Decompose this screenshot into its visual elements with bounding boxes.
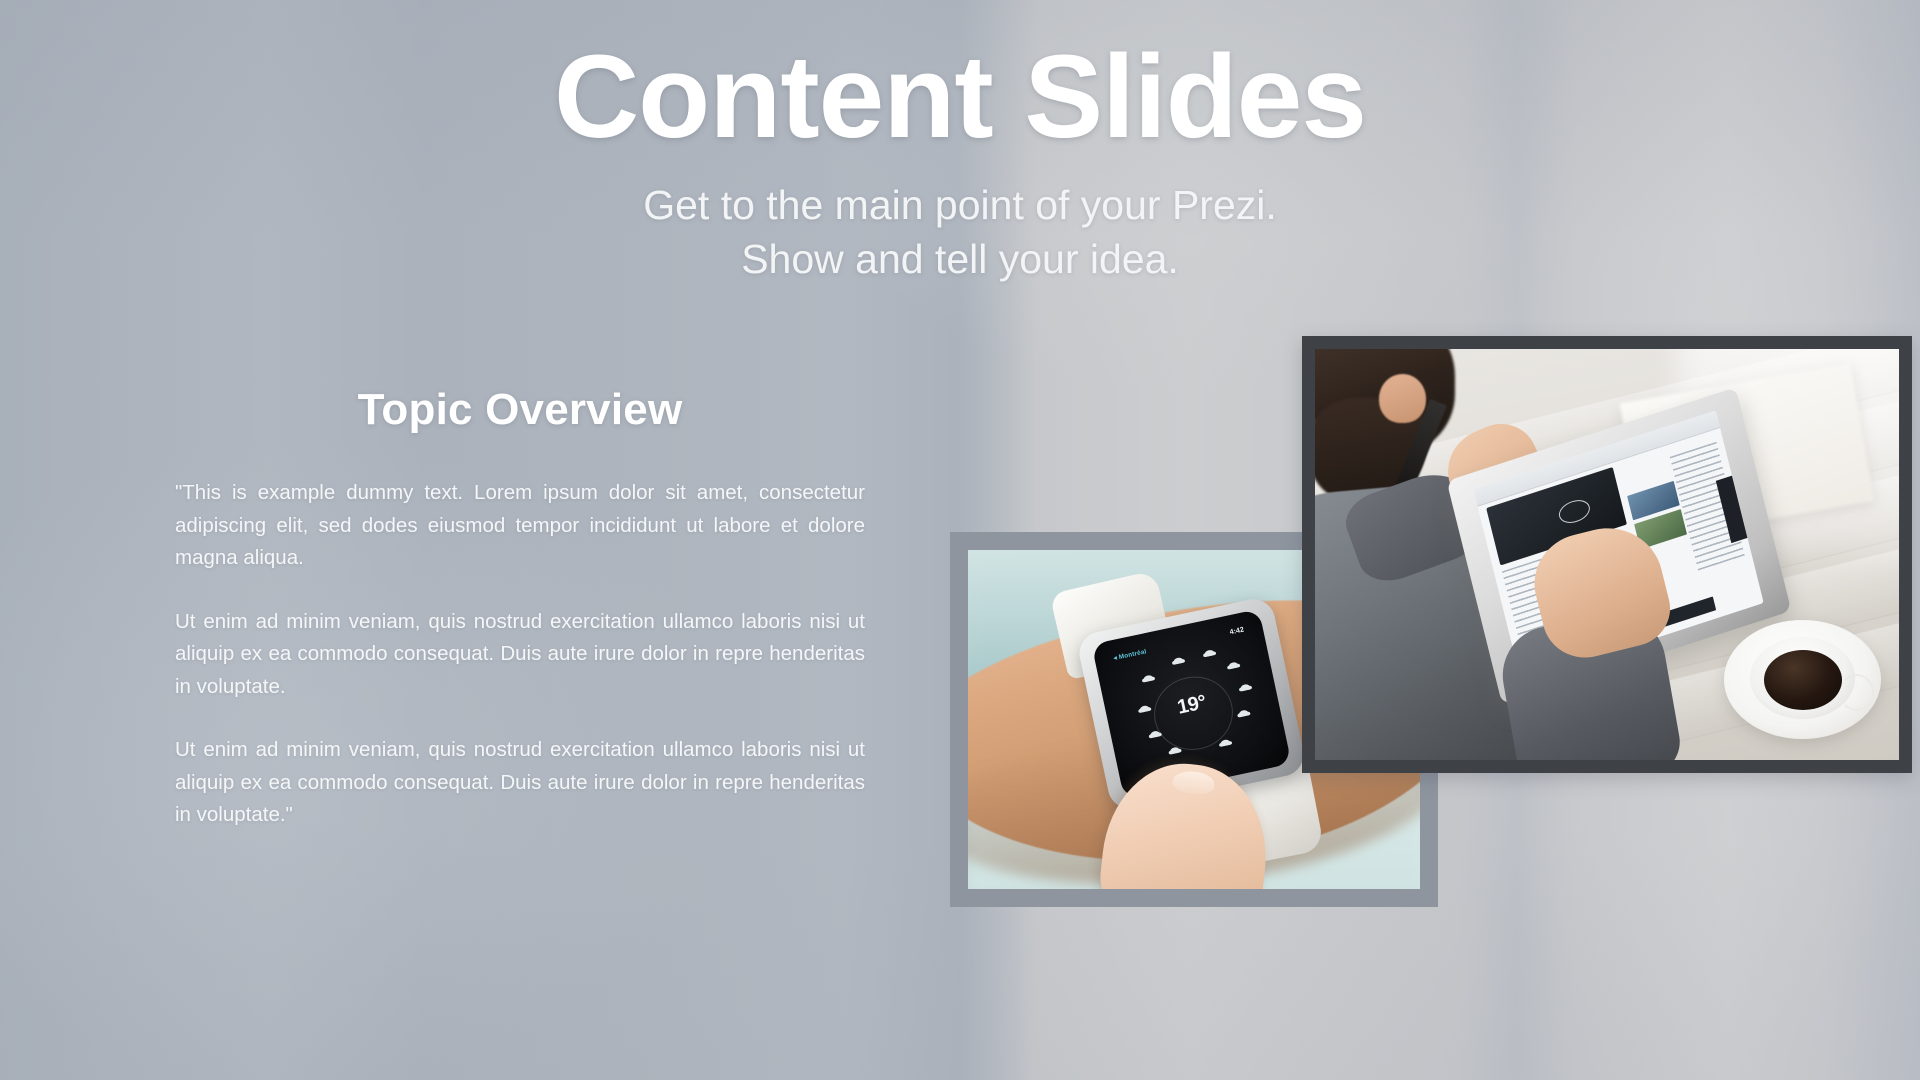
person-ear [1379, 374, 1426, 423]
cloud-icon [1221, 740, 1231, 748]
cloud-icon [1229, 662, 1239, 670]
slide-title: Content Slides [0, 34, 1920, 161]
body-paragraph: "This is example dummy text. Lorem ipsum… [175, 477, 865, 575]
cloud-icon [1205, 649, 1215, 657]
section-heading: Topic Overview [175, 385, 865, 435]
slide-subtitle-line-1: Get to the main point of your Prezi. [0, 179, 1920, 232]
presentation-slide: Content Slides Get to the main point of … [0, 0, 1920, 1080]
cloud-icon [1150, 731, 1160, 739]
watch-time-label: 4:42 [1229, 625, 1245, 637]
coffee-liquid [1764, 650, 1842, 710]
body-paragraph: Ut enim ad minim veniam, quis nostrud ex… [175, 606, 865, 704]
cloud-icon [1173, 658, 1183, 666]
coffee-handle [1839, 674, 1874, 711]
content-text-column: Topic Overview "This is example dummy te… [175, 385, 865, 832]
watch-city-label: ◂ Montréal [1113, 648, 1148, 663]
play-circle-icon [1556, 497, 1591, 528]
slide-subtitle-line-2: Show and tell your idea. [0, 233, 1920, 286]
tablet-photo [1315, 349, 1899, 760]
tablet-photo-frame [1302, 336, 1912, 773]
cloud-icon [1170, 747, 1180, 755]
slide-subtitle: Get to the main point of your Prezi. Sho… [0, 179, 1920, 286]
slide-header: Content Slides Get to the main point of … [0, 0, 1920, 286]
tablet-scene [1315, 349, 1899, 760]
cloud-icon [1144, 675, 1154, 683]
fingernail [1171, 768, 1215, 795]
body-paragraph: Ut enim ad minim veniam, quis nostrud ex… [175, 734, 865, 832]
cloud-icon [1239, 710, 1249, 718]
